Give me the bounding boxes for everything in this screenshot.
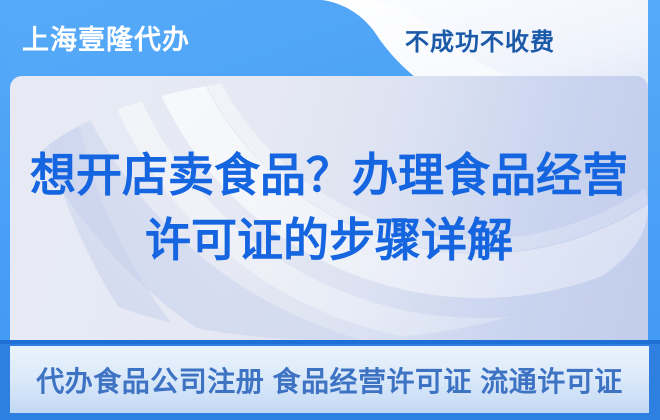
title-line-2: 许可证的步骤详解 <box>145 208 513 273</box>
footer-bottom-rule <box>0 415 660 420</box>
slogan-text: 不成功不收费 <box>390 22 570 57</box>
footer-keywords: 代办食品公司注册 食品经营许可证 流通许可证 <box>36 360 623 400</box>
banner-header: 上海壹隆代办 不成功不收费 <box>0 0 660 75</box>
title-card: 想开店卖食品？办理食品经营 许可证的步骤详解 <box>10 76 648 340</box>
brand-name: 上海壹隆代办 <box>22 18 190 57</box>
main-title: 想开店卖食品？办理食品经营 许可证的步骤详解 <box>10 76 648 340</box>
title-line-1: 想开店卖食品？办理食品经营 <box>30 143 628 208</box>
footer-inner-panel: 代办食品公司注册 食品经营许可证 流通许可证 <box>10 346 649 413</box>
footer-bar: 代办食品公司注册 食品经营许可证 流通许可证 <box>0 340 660 420</box>
promo-banner: 上海壹隆代办 不成功不收费 <box>0 0 660 420</box>
footer-top-rule <box>0 340 660 344</box>
